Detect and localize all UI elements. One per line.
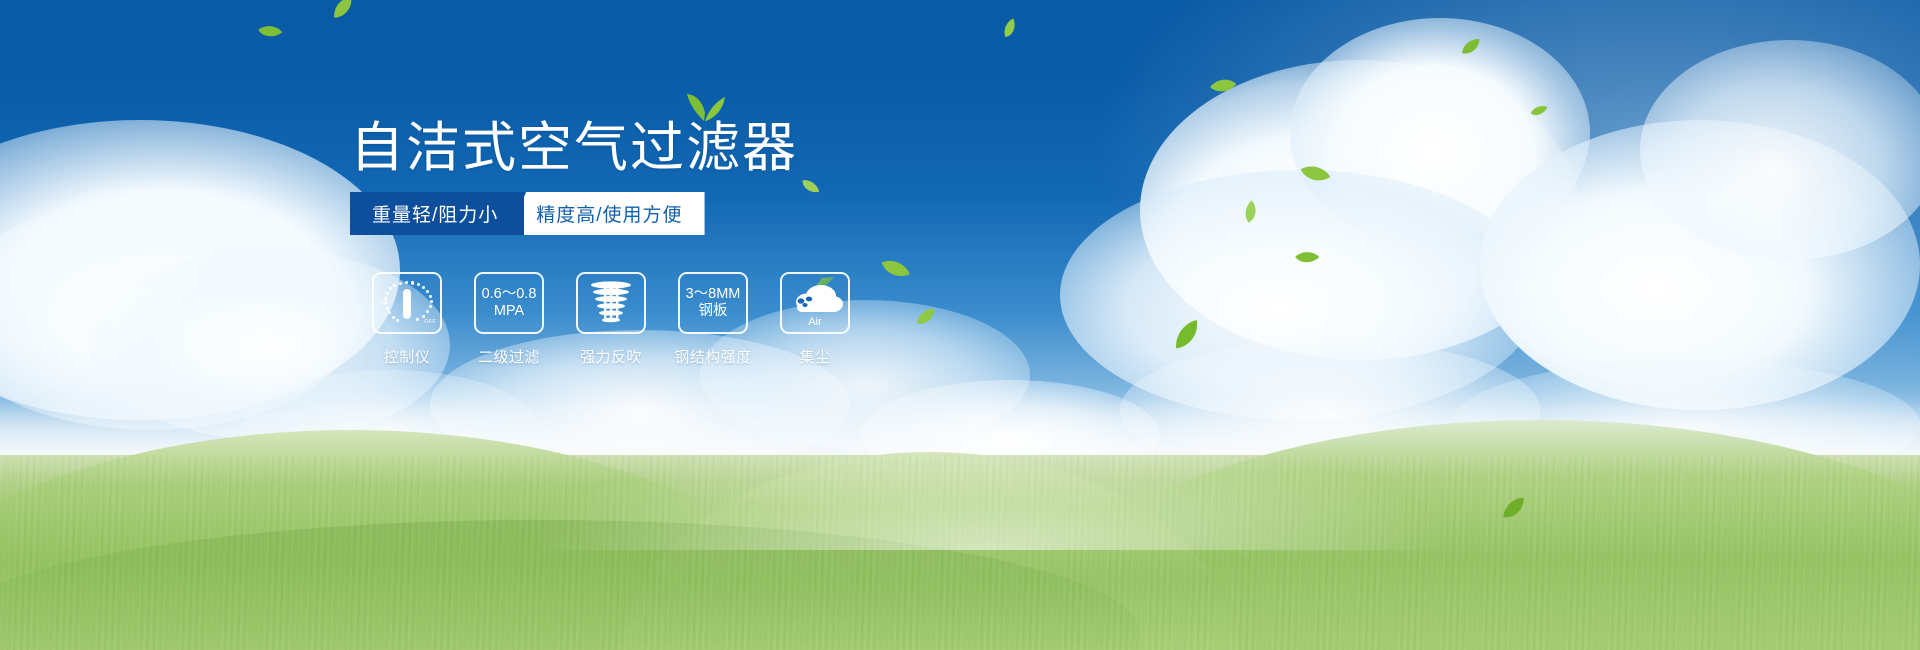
feature-row: NO OFF 控制仪 0.6～0.8 MPA 二级过滤 bbox=[356, 272, 866, 367]
gauge-icon: NO OFF bbox=[380, 280, 434, 326]
gauge-label-off: OFF bbox=[424, 319, 436, 325]
feature-box: 3～8MM 钢板 bbox=[678, 272, 748, 334]
feature-item-pressure[interactable]: 0.6～0.8 MPA 二级过滤 bbox=[458, 272, 560, 367]
gauge-label-no: NO bbox=[379, 300, 388, 306]
steel-thickness: 3～8MM bbox=[686, 286, 741, 303]
feature-box: NO OFF bbox=[372, 272, 442, 334]
pressure-text-icon: 0.6～0.8 MPA bbox=[482, 286, 537, 320]
feature-label: 钢结构强度 bbox=[674, 346, 752, 367]
feature-label: 强力反吹 bbox=[580, 346, 642, 367]
page-title: 自洁式空气过滤器 bbox=[350, 118, 798, 178]
feature-item-dust[interactable]: Air 集尘 bbox=[764, 272, 866, 367]
pressure-unit: MPA bbox=[482, 303, 537, 320]
badge-label: 精度高/使用方便 bbox=[536, 200, 682, 227]
feature-label: 控制仪 bbox=[384, 346, 431, 367]
feature-box: 0.6～0.8 MPA bbox=[474, 272, 544, 334]
feature-label: 二级过滤 bbox=[478, 346, 540, 367]
title-leaf-icon bbox=[684, 88, 726, 127]
coil-filter-icon bbox=[588, 279, 634, 327]
promo-banner: 自洁式空气过滤器 重量轻/阻力小 精度高/使用方便 bbox=[0, 0, 1920, 650]
feature-item-steel[interactable]: 3～8MM 钢板 钢结构强度 bbox=[662, 272, 764, 367]
feature-label: 集尘 bbox=[799, 346, 830, 367]
feature-box: Air bbox=[780, 272, 850, 334]
badge-precision[interactable]: 精度高/使用方便 bbox=[506, 192, 704, 235]
feature-item-blowback[interactable]: 强力反吹 bbox=[560, 272, 662, 367]
feature-item-controller[interactable]: NO OFF 控制仪 bbox=[356, 272, 458, 367]
steel-material: 钢板 bbox=[686, 303, 741, 320]
steel-plate-text-icon: 3～8MM 钢板 bbox=[686, 286, 741, 320]
badge-lightweight[interactable]: 重量轻/阻力小 bbox=[350, 192, 524, 235]
feature-box bbox=[576, 272, 646, 334]
air-label: Air bbox=[787, 316, 843, 328]
gauge-needle bbox=[403, 289, 411, 319]
cloud-air-icon: Air bbox=[787, 280, 843, 326]
badge-label: 重量轻/阻力小 bbox=[372, 200, 498, 227]
badge-row: 重量轻/阻力小 精度高/使用方便 bbox=[350, 192, 705, 235]
pressure-range: 0.6～0.8 bbox=[482, 286, 537, 303]
